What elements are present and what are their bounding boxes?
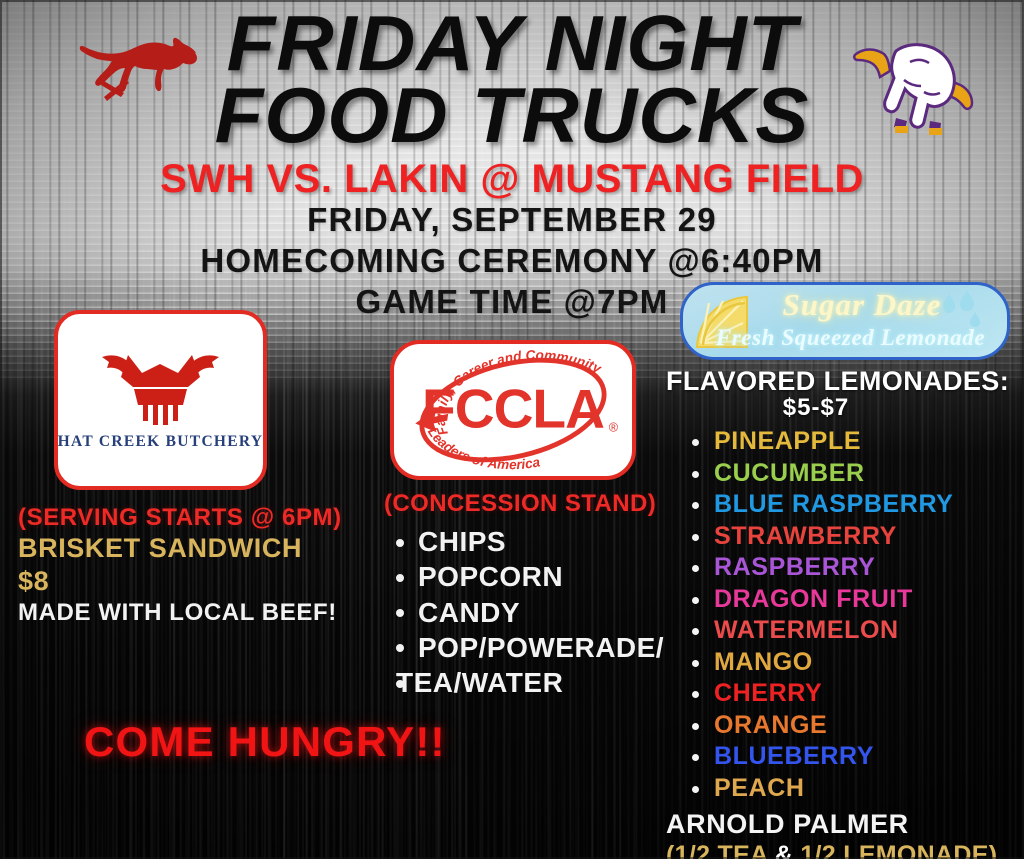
arnold-palmer-label: ARNOLD PALMER [666,809,1018,840]
header: FRIDAY NIGHT FOOD TRUCKS SWH VS. LAKIN @… [0,0,1024,300]
flavor-list-item: MANGO [666,647,1018,679]
sugar-daze-logo-card: Sugar Daze Fresh Squeezed Lemonade [680,282,1010,360]
flavor-list-item: DRAGON FRUIT [666,584,1018,616]
vendor-sugar-daze: Sugar Daze Fresh Squeezed Lemonade FLAVO… [666,282,1018,859]
arnold-detail-a: (1/2 TEA [666,841,775,859]
flavor-list-item: CUCUMBER [666,458,1018,490]
flavor-list: PINEAPPLECUCUMBERBLUE RASPBERRYSTRAWBERR… [666,426,1018,804]
list-item: CHIPS [384,524,664,559]
sugar-daze-tagline: Fresh Squeezed Lemonade [693,325,1008,351]
flavor-list-item: WATERMELON [666,615,1018,647]
flavor-list-item: CHERRY [666,678,1018,710]
fccla-subtitle: (CONCESSION STAND) [384,490,664,518]
list-item: POPCORN [384,559,664,594]
fccla-wordmark: FCCLA [422,377,604,439]
fccla-logo-icon: Family, Career and Community Leaders of … [394,340,632,480]
matchup-subtitle: SWH VS. LAKIN @ MUSTANG FIELD [0,157,1024,202]
arnold-detail-b: 1/2 LEMONADE) [793,841,997,859]
list-item: POP/POWERADE/ [384,630,664,665]
flavor-list-item: PEACH [666,773,1018,805]
flavors-price-range: $5-$7 [666,394,966,422]
come-hungry-callout: COME HUNGRY!! [84,718,446,766]
hat-creek-details: (SERVING STARTS @ 6PM) BRISKET SANDWICH … [18,504,378,628]
hat-creek-wordmark: HAT CREEK BUTCHERY [58,433,264,451]
flavor-list-item: PINEAPPLE [666,426,1018,458]
title-line-2: FOOD TRUCKS [0,80,1024,152]
hat-creek-tagline: MADE WITH LOCAL BEEF! [18,598,378,628]
ceremony-time: HOMECOMING CEREMONY @6:40PM [0,241,1024,282]
sugar-daze-name: Sugar Daze [747,287,977,323]
fccla-item-list: CHIPS POPCORN CANDY POP/POWERADE/ TEA/WA… [384,524,664,700]
list-item: CANDY [384,595,664,630]
flavor-list-item: RASPBERRY [666,552,1018,584]
fccla-registered-mark: ® [609,420,619,434]
flavor-list-item: STRAWBERRY [666,521,1018,553]
event-date: FRIDAY, SEPTEMBER 29 [0,200,1024,241]
hat-creek-logo-card: HAT CREEK BUTCHERY [54,310,267,490]
flavors-header: FLAVORED LEMONADES: [666,366,1018,397]
vendor-hat-creek: HAT CREEK BUTCHERY (SERVING STARTS @ 6PM… [18,310,378,628]
flavor-list-item: BLUEBERRY [666,741,1018,773]
bull-skull-icon [98,349,223,427]
hat-creek-item: BRISKET SANDWICH [18,532,378,565]
arnold-detail-amp: & [775,841,793,859]
flyer-canvas: FRIDAY NIGHT FOOD TRUCKS SWH VS. LAKIN @… [0,0,1024,859]
hat-creek-price: $8 [18,565,378,598]
fccla-logo-card: Family, Career and Community Leaders of … [390,340,636,480]
page-title: FRIDAY NIGHT FOOD TRUCKS [0,8,1024,152]
flavor-list-item: ORANGE [666,710,1018,742]
vendor-fccla: Family, Career and Community Leaders of … [384,340,664,700]
list-item-continuation: TEA/WATER [384,665,664,700]
hat-creek-serving-note: (SERVING STARTS @ 6PM) [18,504,378,532]
arnold-palmer-detail: (1/2 TEA & 1/2 LEMONADE) [666,841,1018,859]
flavor-list-item: BLUE RASPBERRY [666,489,1018,521]
